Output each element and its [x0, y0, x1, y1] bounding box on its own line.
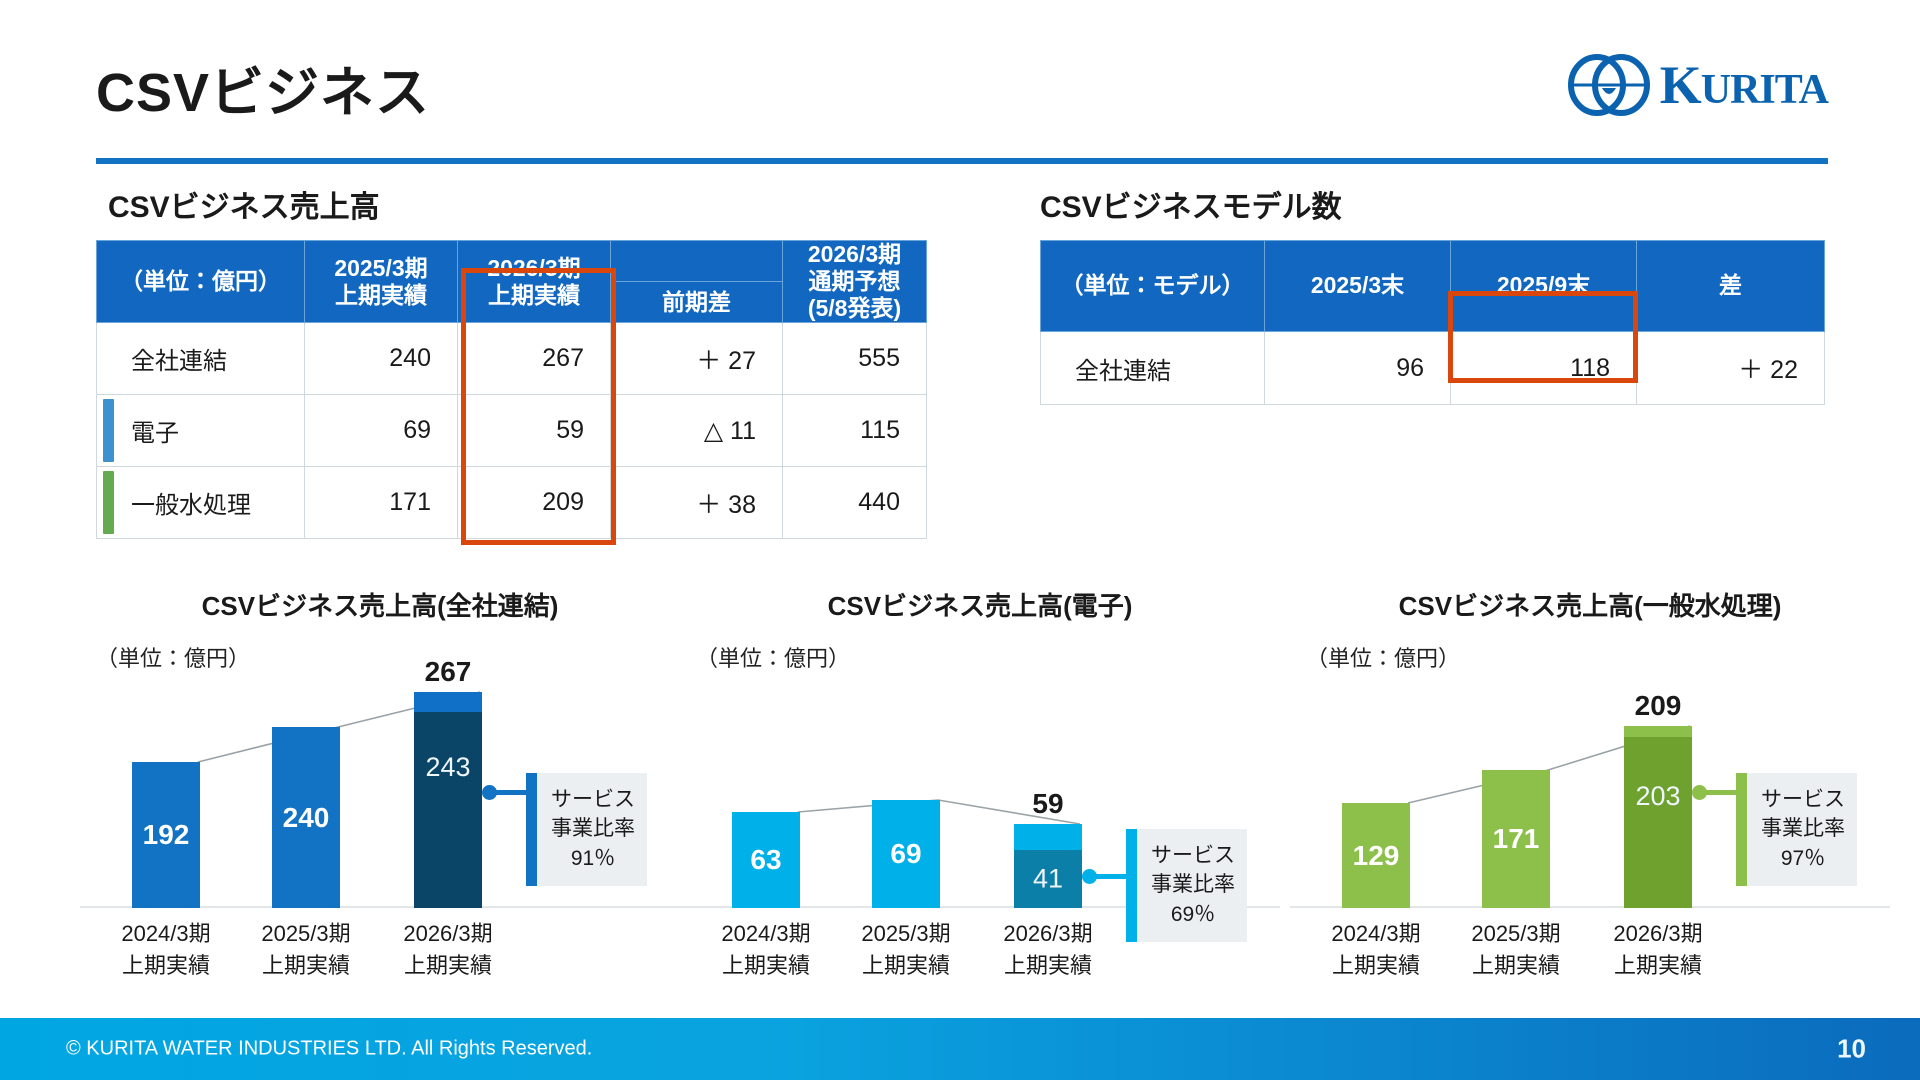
callout-stem [1704, 790, 1738, 795]
x-label-line1: 2024/3期 [91, 918, 241, 950]
bar-segment-total: 129 [1342, 803, 1410, 908]
bar-2025: 171 [1482, 770, 1550, 908]
header-forecast-line3: (5/8発表) [783, 295, 926, 322]
x-label-2024: 2024/3期 上期実績 [1301, 918, 1451, 982]
chart-unit-label: （単位：億円） [696, 641, 1280, 673]
cell-current: 209 [458, 467, 611, 539]
x-axis-labels: 2024/3期 上期実績 2025/3期 上期実績 2026/3期 上期実績 [80, 918, 680, 996]
callout-box: サービス 事業比率 91％ [537, 773, 647, 886]
x-label-line2: 上期実績 [1301, 950, 1451, 982]
bar-2026: 59 41 [1014, 824, 1082, 908]
callout-line1: サービス [551, 785, 635, 815]
callout-accent-bar [1736, 773, 1747, 886]
table-header-row: （単位：億円） 2025/3期 上期実績 2026/3期 上期実績 2026/3… [97, 241, 927, 282]
header-fy2026-h1-line1: 2026/3期 [458, 255, 610, 282]
x-label-line2: 上期実績 [1441, 950, 1591, 982]
row-label-electronics: 電子 [97, 395, 305, 467]
bar-service-value-label: 203 [1624, 781, 1692, 812]
bar-2024: 192 [132, 762, 200, 908]
bar-value-label: 171 [1482, 823, 1550, 855]
bar-2026: 209 203 [1624, 726, 1692, 908]
bar-segment-nonservice [1014, 824, 1082, 850]
bar-value-label: 192 [132, 819, 200, 851]
header-fy2026-h1-line2: 上期実績 [458, 282, 610, 309]
header-model-diff: 差 [1637, 241, 1825, 332]
slide-root: CSVビジネス KURITA CSVビジネス売上高 CSVビジネスモデル数 （単… [0, 0, 1920, 1080]
bar-value-label: 69 [872, 838, 940, 870]
bar-segment-nonservice [1624, 726, 1692, 737]
bar-segment-total: 240 [272, 727, 340, 908]
x-label-2025: 2025/3期 上期実績 [1441, 918, 1591, 982]
cell-diff: △ 11 [611, 395, 783, 467]
bar-total-label: 59 [1002, 788, 1094, 820]
x-label-line1: 2024/3期 [691, 918, 841, 950]
row-label-text: 一般水処理 [131, 492, 251, 519]
callout-line2: 事業比率 [1151, 870, 1235, 900]
x-axis-labels: 2024/3期 上期実績 2025/3期 上期実績 2026/3期 上期実績 [1290, 918, 1890, 996]
bar-total-label: 267 [402, 656, 494, 688]
service-ratio-callout: サービス 事業比率 97％ [1736, 773, 1857, 886]
bar-segment-service: 203 [1624, 737, 1692, 908]
table-row: 電子 69 59 △ 11 115 [97, 395, 927, 467]
page-number: 10 [1837, 1034, 1866, 1065]
csv-sales-table: （単位：億円） 2025/3期 上期実績 2026/3期 上期実績 2026/3… [96, 240, 927, 539]
title-divider [96, 158, 1828, 164]
header-fy2026-h1: 2026/3期 上期実績 [458, 241, 611, 323]
header-unit-model: （単位：モデル） [1041, 241, 1265, 332]
header-fy2026-forecast: 2026/3期 通期予想 (5/8発表) [783, 241, 927, 323]
row-label-water: 一般水処理 [97, 467, 305, 539]
x-label-2025: 2025/3期 上期実績 [831, 918, 981, 982]
chart-total-consolidated: CSVビジネス売上高(全社連結) （単位：億円） 192 240 267 [80, 586, 680, 1006]
header-diff: 前期差 [611, 282, 783, 323]
row-label-consolidated: 全社連結 [97, 323, 305, 395]
cell-forecast: 115 [783, 395, 927, 467]
header-fy2025-h1: 2025/3期 上期実績 [305, 241, 458, 323]
callout-line3: 97％ [1761, 844, 1845, 874]
bar-segment-total: 63 [732, 812, 800, 908]
plot-area: 63 69 59 41 サービス 事業比率 [680, 682, 1280, 908]
bar-segment-total: 69 [872, 800, 940, 908]
bar-2025: 69 [872, 800, 940, 908]
x-label-line1: 2025/3期 [231, 918, 381, 950]
kurita-wordmark: KURITA [1660, 58, 1828, 112]
segment-color-marker-blue [103, 399, 114, 462]
chart-unit-label: （単位：億円） [1306, 641, 1890, 673]
footer-bar: © KURITA WATER INDUSTRIES LTD. All Right… [0, 1018, 1920, 1080]
bar-value-label: 240 [272, 802, 340, 834]
callout-line1: サービス [1151, 841, 1235, 871]
table-row: 一般水処理 171 209 ＋ 38 440 [97, 467, 927, 539]
row-label-text: 電子 [131, 420, 179, 447]
chart-water-treatment: CSVビジネス売上高(一般水処理) （単位：億円） 129 171 209 [1290, 586, 1890, 1006]
bar-2024: 129 [1342, 803, 1410, 908]
callout-stem [1094, 874, 1128, 879]
header-fy2025-h1-line2: 上期実績 [305, 282, 457, 309]
table-row: 全社連結 96 118 ＋ 22 [1041, 332, 1825, 405]
bar-segment-nonservice [414, 692, 482, 712]
table-header-row: （単位：モデル） 2025/3末 2025/9末 差 [1041, 241, 1825, 332]
header-fy2025-h1-line1: 2025/3期 [305, 255, 457, 282]
csv-model-count-table: （単位：モデル） 2025/3末 2025/9末 差 全社連結 96 118 ＋… [1040, 240, 1825, 405]
x-label-line1: 2026/3期 [373, 918, 523, 950]
kurita-logomark-icon [1568, 54, 1650, 116]
callout-line3: 91％ [551, 844, 635, 874]
bar-total-label: 209 [1612, 690, 1704, 722]
x-label-line2: 上期実績 [973, 950, 1123, 982]
row-label-consolidated: 全社連結 [1041, 332, 1265, 405]
callout-accent-bar [526, 773, 537, 886]
cell-prev: 171 [305, 467, 458, 539]
x-label-2026: 2026/3期 上期実績 [973, 918, 1123, 982]
bar-2024: 63 [732, 812, 800, 908]
bar-segment-total: 171 [1482, 770, 1550, 908]
bar-2026: 267 243 [414, 692, 482, 908]
callout-line1: サービス [1761, 785, 1845, 815]
header-2025-03: 2025/3末 [1265, 241, 1451, 332]
x-label-2024: 2024/3期 上期実績 [691, 918, 841, 982]
x-label-2026: 2026/3期 上期実績 [373, 918, 523, 982]
bar-2025: 240 [272, 727, 340, 908]
page-title: CSVビジネス [96, 48, 430, 127]
sales-section-heading: CSVビジネス売上高 [108, 182, 380, 226]
chart-title: CSVビジネス売上高(全社連結) [80, 586, 680, 623]
x-label-2024: 2024/3期 上期実績 [91, 918, 241, 982]
plot-area: 129 171 209 203 サービス [1290, 682, 1890, 908]
cell-prev: 96 [1265, 332, 1451, 405]
kurita-logo: KURITA [1568, 54, 1828, 116]
chart-title: CSVビジネス売上高(一般水処理) [1290, 586, 1890, 623]
x-label-line2: 上期実績 [91, 950, 241, 982]
cell-forecast: 555 [783, 323, 927, 395]
callout-line2: 事業比率 [1761, 814, 1845, 844]
cell-current: 267 [458, 323, 611, 395]
cell-diff: ＋ 27 [611, 323, 783, 395]
cell-prev: 69 [305, 395, 458, 467]
bar-segment-service: 243 [414, 712, 482, 908]
x-axis-labels: 2024/3期 上期実績 2025/3期 上期実績 2026/3期 上期実績 [680, 918, 1280, 996]
callout-box: サービス 事業比率 97％ [1747, 773, 1857, 886]
x-label-line2: 上期実績 [691, 950, 841, 982]
x-label-line1: 2026/3期 [973, 918, 1123, 950]
chart-unit-label: （単位：億円） [96, 641, 680, 673]
x-label-line2: 上期実績 [373, 950, 523, 982]
x-label-line1: 2025/3期 [1441, 918, 1591, 950]
x-label-line1: 2025/3期 [831, 918, 981, 950]
bar-value-label: 63 [732, 844, 800, 876]
service-ratio-callout: サービス 事業比率 91％ [526, 773, 647, 886]
row-label-text: 全社連結 [1075, 358, 1171, 385]
x-label-2026: 2026/3期 上期実績 [1583, 918, 1733, 982]
bar-segment-service: 41 [1014, 850, 1082, 908]
copyright-text: © KURITA WATER INDUSTRIES LTD. All Right… [66, 1038, 592, 1061]
cell-current: 118 [1451, 332, 1637, 405]
row-label-text: 全社連結 [131, 348, 227, 375]
cell-prev: 240 [305, 323, 458, 395]
bar-service-value-label: 41 [1014, 864, 1082, 895]
cell-forecast: 440 [783, 467, 927, 539]
bar-value-label: 129 [1342, 840, 1410, 872]
table-row: 全社連結 240 267 ＋ 27 555 [97, 323, 927, 395]
segment-color-marker-green [103, 471, 114, 534]
chart-electronics: CSVビジネス売上高(電子) （単位：億円） 63 69 59 41 [680, 586, 1280, 1006]
header-forecast-line2: 通期予想 [783, 268, 926, 295]
plot-area: 192 240 267 243 サービス [80, 682, 680, 908]
x-label-line1: 2026/3期 [1583, 918, 1733, 950]
x-label-line1: 2024/3期 [1301, 918, 1451, 950]
chart-title: CSVビジネス売上高(電子) [680, 586, 1280, 623]
callout-line2: 事業比率 [551, 814, 635, 844]
cell-current: 59 [458, 395, 611, 467]
x-label-line2: 上期実績 [1583, 950, 1733, 982]
header-forecast-line1: 2026/3期 [783, 241, 926, 268]
callout-stem [494, 790, 528, 795]
bar-service-value-label: 243 [414, 752, 482, 783]
cell-diff: ＋ 38 [611, 467, 783, 539]
header-unit: （単位：億円） [97, 241, 305, 323]
bar-segment-total: 192 [132, 762, 200, 908]
models-section-heading: CSVビジネスモデル数 [1040, 182, 1342, 226]
header-diff-spacer [611, 241, 783, 282]
x-label-line2: 上期実績 [831, 950, 981, 982]
header-2025-09: 2025/9末 [1451, 241, 1637, 332]
cell-diff: ＋ 22 [1637, 332, 1825, 405]
x-label-2025: 2025/3期 上期実績 [231, 918, 381, 982]
x-label-line2: 上期実績 [231, 950, 381, 982]
